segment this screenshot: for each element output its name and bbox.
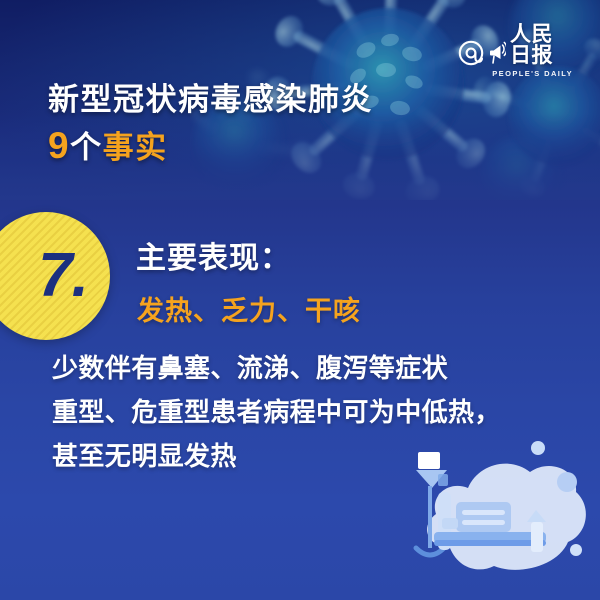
bed-back-panel (456, 502, 511, 532)
iv-pole (428, 486, 432, 548)
deco-dot-2 (557, 472, 577, 492)
at-symbol-icon (458, 40, 485, 66)
logo-name-cn: 人民日报 (510, 24, 574, 66)
bed-panel-line-2 (462, 520, 505, 525)
iv-drip-chamber (438, 474, 448, 486)
body-line-2: 重型、危重型患者病程中可为中低热， (52, 392, 501, 429)
deco-dot-1 (531, 441, 545, 455)
primary-symptoms-text: 发热、乏力、干咳 (137, 289, 361, 328)
poster-header: 人民日报 PEOPLE'S DAILY 新型冠状病毒感染肺炎 9个事实 (0, 0, 600, 200)
logo-row: 人民日报 (458, 40, 574, 66)
body-line-3: 甚至无明显发热 (52, 436, 237, 473)
bed-panel-line-1 (462, 510, 505, 515)
poster-title: 新型冠状病毒感染肺炎 (48, 74, 373, 119)
body-line-1: 少数伴有鼻塞、流涕、腹泻等症状 (52, 348, 448, 385)
deco-dot-3 (570, 544, 582, 556)
iv-bag (418, 452, 440, 469)
subtitle-number: 9 (48, 125, 70, 166)
bed-frame (434, 540, 546, 546)
bed-footboard (531, 522, 543, 552)
subtitle-word: 事实 (103, 130, 168, 165)
logo-name-en: PEOPLE'S DAILY (458, 69, 574, 78)
subtitle-unit: 个 (70, 130, 103, 165)
publisher-logo: 人民日报 PEOPLE'S DAILY (458, 40, 574, 84)
pillow (442, 518, 458, 529)
infographic-poster: 人民日报 PEOPLE'S DAILY 新型冠状病毒感染肺炎 9个事实 7. 主… (0, 0, 600, 600)
item-number-text: 7. (0, 212, 110, 340)
megaphone-signal-icon (489, 40, 506, 66)
hospital-bed-with-iv-drip (390, 430, 600, 600)
poster-subtitle: 9个事实 (48, 122, 168, 167)
iv-stand-base (416, 548, 444, 555)
section-heading: 主要表现： (136, 233, 291, 277)
item-number-badge: 7. (0, 212, 110, 340)
